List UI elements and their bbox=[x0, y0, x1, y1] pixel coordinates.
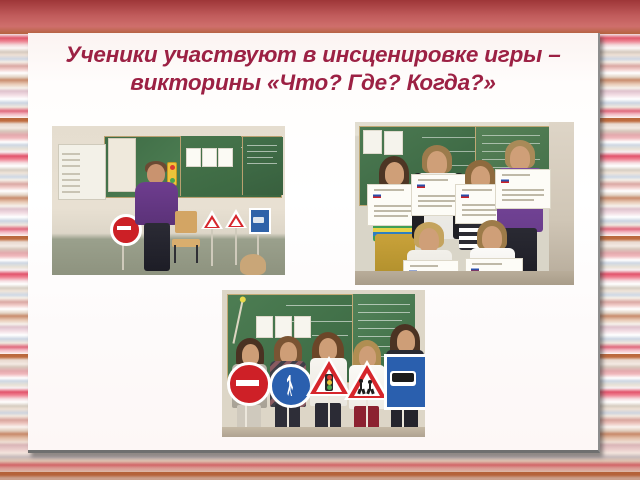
photo-kids-traffic-signs bbox=[222, 290, 425, 437]
board-paper bbox=[202, 148, 217, 167]
bus-stop-sign-icon bbox=[384, 354, 425, 410]
top-color-band bbox=[0, 0, 640, 34]
board-paper bbox=[275, 316, 292, 338]
teacher-legs bbox=[144, 223, 170, 271]
page-title: Ученики участвуют в инсценировке игры – … bbox=[38, 41, 588, 97]
board-paper bbox=[256, 316, 273, 338]
no-entry-sign-icon bbox=[227, 362, 271, 406]
wall-poster-middle bbox=[108, 138, 136, 192]
sign-pole bbox=[211, 228, 213, 266]
teacher-head bbox=[147, 164, 165, 184]
board-paper bbox=[294, 316, 311, 338]
student-head bbox=[240, 254, 266, 275]
classroom-floor bbox=[355, 271, 574, 285]
classroom-chair bbox=[172, 211, 200, 263]
slide-stage: Ученики участвуют в инсценировке игры – … bbox=[0, 0, 640, 480]
warning-triangle-sign-icon bbox=[201, 210, 223, 229]
warning-triangle-sign-icon bbox=[225, 209, 247, 228]
presentation-slide: Ученики участвуют в инсценировке игры – … bbox=[28, 33, 600, 453]
sign-pole bbox=[235, 227, 237, 265]
wall-poster-left bbox=[58, 144, 106, 200]
board-paper bbox=[384, 131, 403, 155]
board-paper bbox=[363, 130, 382, 154]
classroom-wall-right bbox=[549, 122, 574, 285]
chalkboard-right bbox=[242, 137, 283, 195]
photo-classroom-teacher bbox=[52, 126, 285, 275]
classroom-floor bbox=[222, 427, 425, 437]
photo-kids-diplomas bbox=[355, 122, 574, 285]
board-paper bbox=[186, 148, 201, 167]
board-paper bbox=[218, 148, 233, 167]
blue-info-sign-icon bbox=[249, 208, 271, 234]
diploma bbox=[495, 169, 551, 209]
